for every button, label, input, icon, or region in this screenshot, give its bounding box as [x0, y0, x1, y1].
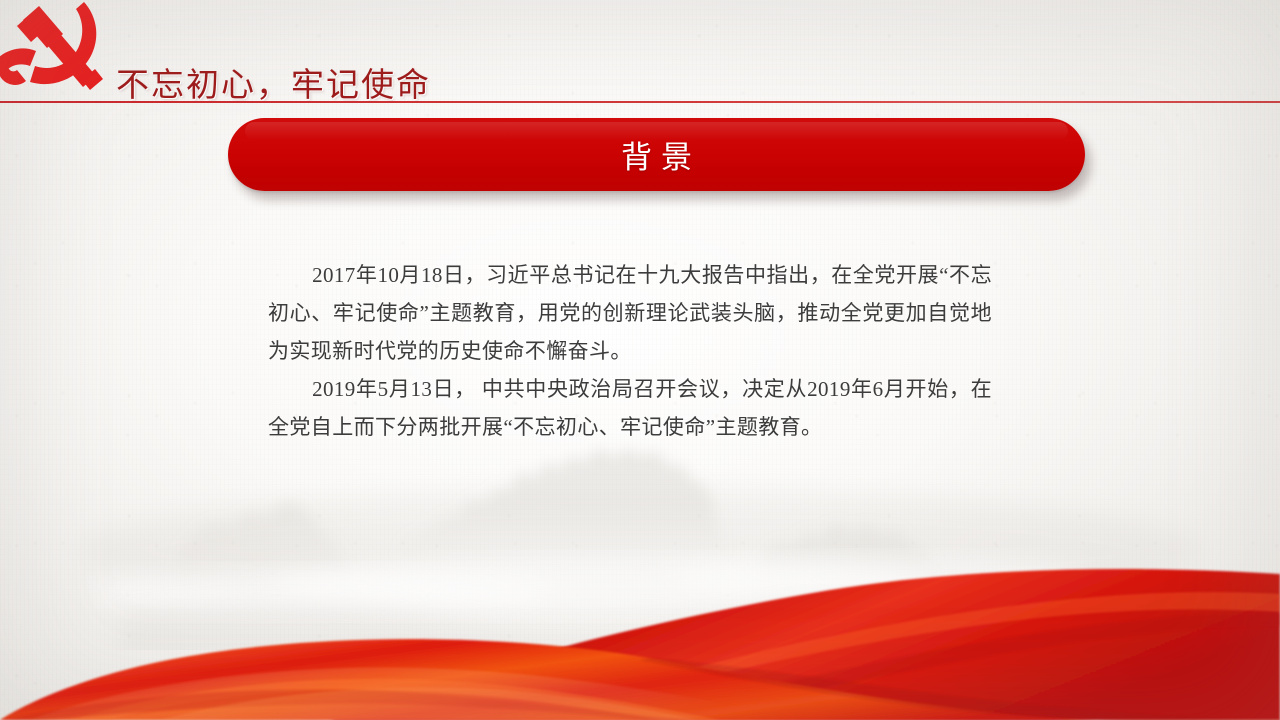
paragraph-2: 2019年5月13日， 中共中央政治局召开会议，决定从2019年6月开始，在全党… [268, 370, 992, 446]
section-banner: 背景 [228, 118, 1085, 191]
header-divider [0, 101, 1280, 103]
section-banner-label: 背景 [612, 132, 701, 177]
body-text-block: 2017年10月18日，习近平总书记在十九大报告中指出，在全党开展“不忘初心、牢… [268, 256, 992, 446]
slide-canvas: 不忘初心，牢记使命 背景 2017年10月18日，习近平总书记在十九大报告中指出… [0, 0, 1280, 720]
paragraph-1: 2017年10月18日，习近平总书记在十九大报告中指出，在全党开展“不忘初心、牢… [268, 256, 992, 370]
hammer-sickle-icon [0, 0, 108, 100]
page-title: 不忘初心，牢记使命 [116, 58, 431, 106]
